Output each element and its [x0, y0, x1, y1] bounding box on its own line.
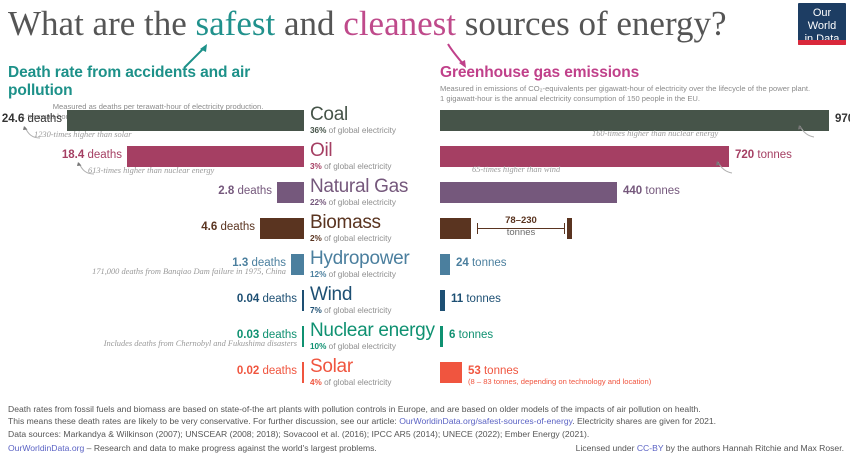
- death-rate-unit: deaths: [24, 113, 62, 125]
- title-part-1: What are the: [8, 4, 196, 43]
- energy-source-name: Wind: [310, 284, 352, 306]
- death-rate-cell: 2.8 deaths: [0, 180, 310, 216]
- chart-row: 0.02 deathsSolar4% of global electricity…: [0, 360, 850, 396]
- emissions-range-bracket: 78–230tonnes: [477, 218, 565, 240]
- electricity-share: 22% of global electricity: [310, 198, 396, 207]
- emissions-range-note: (8 – 83 tonnes, depending on technology …: [468, 377, 651, 386]
- electricity-share: 3% of global electricity: [310, 162, 391, 171]
- chart-row: 1.3 deaths171,000 deaths from Banqiao Da…: [0, 252, 850, 288]
- electricity-share: 4% of global electricity: [310, 378, 391, 387]
- emissions-range-max-bar: [567, 218, 572, 239]
- chart-row: 18.4 deaths613-times higher than nuclear…: [0, 144, 850, 180]
- emissions-bar: [440, 146, 729, 167]
- section-title-emissions: Greenhouse gas emissions: [440, 64, 840, 82]
- emissions-annotation: 160-times higher than nuclear energy: [592, 129, 718, 138]
- emissions-bar: [440, 326, 443, 347]
- emissions-value: 11 tonnes: [451, 292, 501, 307]
- death-rate-value: 4.6 deaths: [201, 219, 255, 236]
- footer-license-prefix: Licensed under: [576, 443, 637, 453]
- death-rate-bar: [302, 362, 304, 383]
- footer-line-4-text: – Research and data to make progress aga…: [84, 443, 377, 453]
- death-rate-number: 0.04: [237, 293, 259, 305]
- death-rate-unit: deaths: [259, 293, 297, 305]
- chart-row: 2.8 deathsNatural Gas22% of global elect…: [0, 180, 850, 216]
- death-rate-value: 2.8 deaths: [218, 183, 272, 200]
- energy-source-label-cell: Coal36% of global electricity: [310, 108, 440, 144]
- energy-source-name: Hydropower: [310, 248, 409, 270]
- energy-source-label-cell: Hydropower12% of global electricity: [310, 252, 440, 288]
- death-rate-number: 2.8: [218, 185, 234, 197]
- chart-row: 0.03 deathsIncludes deaths from Chernoby…: [0, 324, 850, 360]
- chart-row: 24.6 deaths1230-times higher than solarC…: [0, 108, 850, 144]
- death-rate-unit: deaths: [84, 149, 122, 161]
- energy-source-name: Natural Gas: [310, 176, 408, 198]
- emissions-cell: 78–230tonnes: [440, 216, 850, 252]
- emissions-cell: 970 tonnes160-times higher than nuclear …: [440, 108, 850, 144]
- emissions-value: 440 tonnes: [623, 184, 680, 199]
- energy-source-label-cell: Nuclear energy10% of global electricity: [310, 324, 440, 360]
- death-rate-unit: deaths: [217, 221, 255, 233]
- section-sub1-emissions: Measured in emissions of CO₂-equivalents…: [440, 84, 840, 94]
- emissions-bar: [440, 290, 445, 311]
- death-rate-number: 4.6: [201, 221, 217, 233]
- death-rate-cell: 24.6 deaths1230-times higher than solar: [0, 108, 310, 144]
- energy-source-name: Biomass: [310, 212, 381, 234]
- death-rate-annotation: Includes deaths from Chernobyl and Fukus…: [104, 339, 297, 348]
- death-rate-bar: [277, 182, 304, 203]
- footer-article-link[interactable]: OurWorldinData.org/safest-sources-of-ene…: [399, 416, 572, 426]
- emissions-cell: 440 tonnes: [440, 180, 850, 216]
- energy-source-name: Coal: [310, 104, 348, 126]
- death-rate-annotation: 171,000 deaths from Banqiao Dam failure …: [92, 267, 286, 276]
- energy-source-label-cell: Wind7% of global electricity: [310, 288, 440, 324]
- death-rate-bar: [302, 326, 304, 347]
- energy-source-label-cell: Biomass2% of global electricity: [310, 216, 440, 252]
- death-rate-number: 0.02: [237, 365, 259, 377]
- death-rate-cell: 0.03 deathsIncludes deaths from Chernoby…: [0, 324, 310, 360]
- electricity-share: 36% of global electricity: [310, 126, 396, 135]
- footer-owid-link[interactable]: OurWorldinData.org: [8, 443, 84, 453]
- emissions-value: 6 tonnes: [449, 328, 493, 343]
- electricity-share: 10% of global electricity: [310, 342, 396, 351]
- footer-license-suffix: by the authors Hannah Ritchie and Max Ro…: [663, 443, 844, 453]
- title-word-cleanest: cleanest: [343, 4, 456, 43]
- electricity-share: 7% of global electricity: [310, 306, 391, 315]
- emissions-range-unit: tonnes: [477, 227, 565, 238]
- section-title-death-rate: Death rate from accidents and air pollut…: [8, 64, 308, 100]
- death-rate-number: 24.6: [2, 113, 24, 125]
- death-rate-bar: [67, 110, 304, 131]
- footer-line-2-text-b: . Electricity shares are given for 2021.: [572, 416, 716, 426]
- title-part-2: and: [275, 4, 343, 43]
- annotation-leader-line: [20, 126, 42, 140]
- energy-source-name: Nuclear energy: [310, 320, 435, 342]
- electricity-share: 12% of global electricity: [310, 270, 396, 279]
- death-rate-bar: [291, 254, 304, 275]
- footer-line-1: Death rates from fossil fuels and biomas…: [8, 404, 844, 416]
- chart-row: 0.04 deathsWind7% of global electricity1…: [0, 288, 850, 324]
- annotation-leader-line: [712, 161, 734, 175]
- death-rate-value: 0.04 deaths: [237, 291, 297, 308]
- energy-source-label-cell: Natural Gas22% of global electricity: [310, 180, 440, 216]
- annotation-leader-line: [74, 162, 96, 176]
- energy-source-name: Solar: [310, 356, 353, 378]
- energy-source-name: Oil: [310, 140, 332, 162]
- death-rate-unit: deaths: [234, 185, 272, 197]
- owid-logo-line1: Our World: [798, 7, 846, 33]
- energy-source-label-cell: Oil3% of global electricity: [310, 144, 440, 180]
- emissions-bar: [440, 218, 471, 239]
- death-rate-cell: 0.02 deaths: [0, 360, 310, 396]
- emissions-cell: 53 tonnes(8 – 83 tonnes, depending on te…: [440, 360, 850, 396]
- energy-source-label-cell: Solar4% of global electricity: [310, 360, 440, 396]
- annotation-leader-line: [794, 125, 816, 139]
- death-rate-value: 0.02 deaths: [237, 363, 297, 380]
- emissions-bar: [440, 254, 450, 275]
- death-rate-number: 18.4: [62, 149, 84, 161]
- footer-line-3-sources: Data sources: Markandya & Wilkinson (200…: [8, 429, 844, 441]
- emissions-cell: 6 tonnes: [440, 324, 850, 360]
- emissions-cell: 720 tonnes65-times higher than wind: [440, 144, 850, 180]
- section-sub2-emissions: 1 gigawatt-hour is the annual electricit…: [440, 94, 840, 104]
- emissions-bar: [440, 110, 829, 131]
- emissions-value: 24 tonnes: [456, 256, 507, 271]
- emissions-bar: [440, 182, 617, 203]
- section-header-emissions: Greenhouse gas emissions Measured in emi…: [440, 64, 840, 103]
- owid-logo[interactable]: Our World in Data: [798, 3, 846, 45]
- title-word-safest: safest: [196, 4, 276, 43]
- emissions-cell: 11 tonnes: [440, 288, 850, 324]
- emissions-value: 720 tonnes: [735, 148, 792, 163]
- emissions-cell: 24 tonnes: [440, 252, 850, 288]
- emissions-bar: [440, 362, 462, 383]
- death-rate-bar: [302, 290, 304, 311]
- emissions-annotation: 65-times higher than wind: [472, 165, 560, 174]
- footer-ccby-link[interactable]: CC-BY: [637, 443, 664, 453]
- death-rate-bar: [127, 146, 304, 167]
- death-rate-cell: 1.3 deaths171,000 deaths from Banqiao Da…: [0, 252, 310, 288]
- title-part-3: sources of energy?: [456, 4, 727, 43]
- death-rate-cell: 4.6 deaths: [0, 216, 310, 252]
- footer-line-2-text-a: This means these death rates are likely …: [8, 416, 399, 426]
- chart-row: 4.6 deathsBiomass2% of global electricit…: [0, 216, 850, 252]
- owid-logo-redbar: [798, 40, 846, 45]
- footer: Death rates from fossil fuels and biomas…: [8, 404, 844, 455]
- chart-rows: 24.6 deaths1230-times higher than solarC…: [0, 108, 850, 396]
- emissions-value: 970 tonnes: [835, 112, 850, 127]
- death-rate-annotation: 1230-times higher than solar: [34, 130, 131, 139]
- death-rate-bar: [260, 218, 304, 239]
- electricity-share: 2% of global electricity: [310, 234, 391, 243]
- death-rate-unit: deaths: [259, 365, 297, 377]
- footer-line-4: OurWorldinData.org – Research and data t…: [8, 443, 844, 455]
- page-title: What are the safest and cleanest sources…: [8, 2, 798, 46]
- footer-line-4-right: Licensed under CC-BY by the authors Hann…: [576, 443, 844, 455]
- death-rate-cell: 18.4 deaths613-times higher than nuclear…: [0, 144, 310, 180]
- death-rate-cell: 0.04 deaths: [0, 288, 310, 324]
- emissions-range-value: 78–230: [477, 215, 565, 226]
- death-rate-annotation: 613-times higher than nuclear energy: [88, 166, 214, 175]
- footer-line-4-left: OurWorldinData.org – Research and data t…: [8, 443, 377, 455]
- infographic-root: What are the safest and cleanest sources…: [0, 0, 850, 457]
- footer-line-2: This means these death rates are likely …: [8, 416, 844, 428]
